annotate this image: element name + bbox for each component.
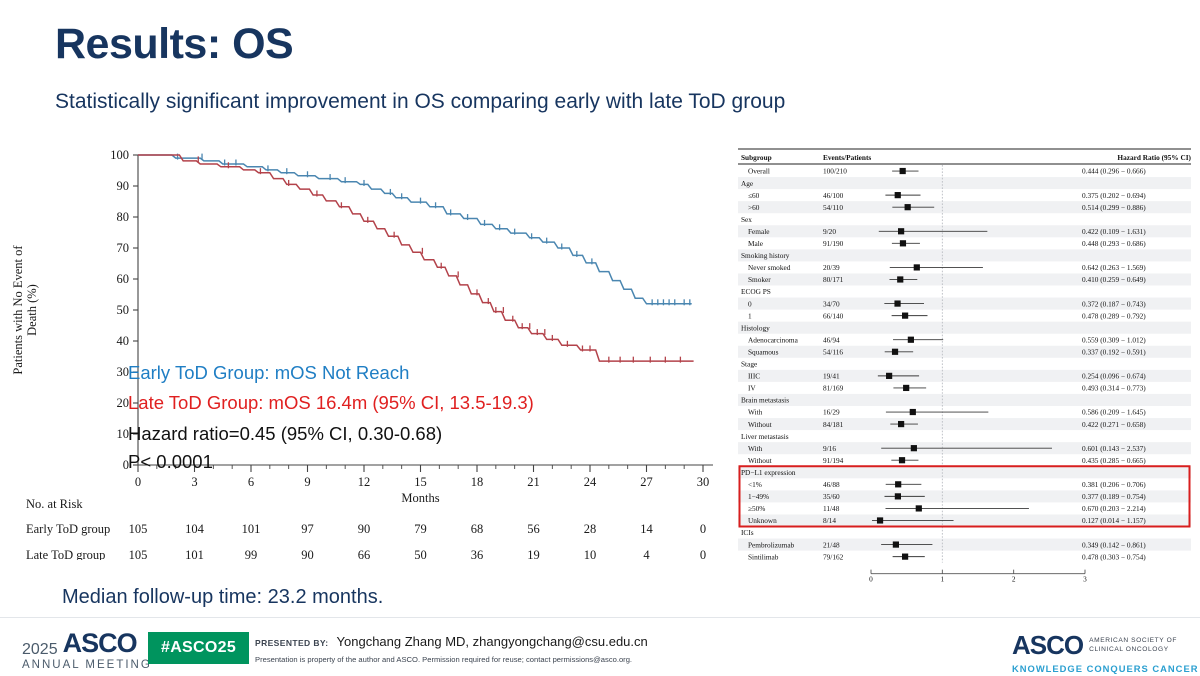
svg-text:66/140: 66/140: [823, 311, 844, 320]
svg-text:Squamous: Squamous: [748, 347, 779, 356]
svg-text:Overall: Overall: [748, 167, 770, 176]
svg-text:0.670 (0.203 − 2.214): 0.670 (0.203 − 2.214): [1082, 504, 1146, 513]
svg-text:Subgroup: Subgroup: [741, 153, 772, 162]
svg-text:2: 2: [1012, 575, 1016, 583]
svg-text:3: 3: [1083, 575, 1087, 583]
svg-text:14: 14: [640, 522, 653, 536]
svg-text:3: 3: [191, 475, 197, 489]
svg-text:0.642 (0.263 − 1.569): 0.642 (0.263 − 1.569): [1082, 263, 1146, 272]
svg-text:91/190: 91/190: [823, 239, 844, 248]
km-svg: 0102030405060708090100036912151821242730…: [0, 140, 730, 560]
svg-text:21/48: 21/48: [823, 540, 840, 549]
svg-text:Without: Without: [748, 420, 772, 429]
svg-text:27: 27: [640, 475, 653, 489]
median-followup-note: Median follow-up time: 23.2 months.: [62, 586, 383, 609]
svg-text:With: With: [748, 444, 763, 453]
svg-text:46/100: 46/100: [823, 191, 844, 200]
svg-text:0.410 (0.259 − 0.649): 0.410 (0.259 − 0.649): [1082, 275, 1146, 284]
svg-text:30: 30: [697, 475, 710, 489]
page-title: Results: OS: [55, 20, 293, 69]
svg-text:0.377 (0.189 − 0.754): 0.377 (0.189 − 0.754): [1082, 492, 1146, 501]
svg-text:16/29: 16/29: [823, 408, 840, 417]
svg-text:0.372 (0.187 − 0.743): 0.372 (0.187 − 0.743): [1082, 299, 1146, 308]
svg-text:Sex: Sex: [741, 215, 752, 224]
svg-text:34/70: 34/70: [823, 299, 840, 308]
svg-text:4: 4: [643, 548, 650, 560]
footer-right-sub1: AMERICAN SOCIETY OF: [1089, 637, 1177, 645]
svg-text:0: 0: [700, 522, 706, 536]
svg-text:66: 66: [358, 548, 371, 560]
svg-text:9/16: 9/16: [823, 444, 836, 453]
svg-text:≥50%: ≥50%: [748, 504, 765, 513]
svg-text:80/171: 80/171: [823, 275, 844, 284]
svg-text:97: 97: [301, 522, 314, 536]
svg-text:1: 1: [748, 311, 752, 320]
svg-text:0.478 (0.303 − 0.754): 0.478 (0.303 − 0.754): [1082, 552, 1146, 561]
asco-kcc-logo: ASCO AMERICAN SOCIETY OF CLINICAL ONCOLO…: [1012, 630, 1198, 674]
footer-asco-word: ASCO: [63, 628, 137, 659]
svg-text:With: With: [748, 408, 763, 417]
svg-text:Smoking history: Smoking history: [741, 251, 790, 260]
svg-text:8/14: 8/14: [823, 516, 836, 525]
forest-plot: SubgroupEvents/PatientsHazard Ratio (95%…: [738, 143, 1193, 583]
svg-text:9/20: 9/20: [823, 227, 836, 236]
svg-text:Female: Female: [748, 227, 769, 236]
svg-text:0.422 (0.271 − 0.658): 0.422 (0.271 − 0.658): [1082, 420, 1146, 429]
svg-text:0: 0: [748, 299, 752, 308]
svg-text:≤60: ≤60: [748, 191, 760, 200]
forest-svg: SubgroupEvents/PatientsHazard Ratio (95%…: [738, 143, 1193, 583]
svg-text:90: 90: [301, 548, 314, 560]
svg-text:100: 100: [110, 148, 129, 162]
svg-text:0.375 (0.202 − 0.694): 0.375 (0.202 − 0.694): [1082, 191, 1146, 200]
svg-text:100/210: 100/210: [823, 167, 847, 176]
presenter-name: Yongchang Zhang MD, zhangyongchang@csu.e…: [337, 634, 648, 649]
svg-text:6: 6: [248, 475, 254, 489]
slide-canvas: Results: OS Statistically significant im…: [0, 0, 1200, 675]
svg-text:Age: Age: [741, 179, 753, 188]
svg-text:80: 80: [117, 210, 130, 224]
svg-text:Brain metastasis: Brain metastasis: [741, 396, 789, 405]
svg-text:54/116: 54/116: [823, 347, 843, 356]
svg-text:91/194: 91/194: [823, 456, 844, 465]
svg-text:1−49%: 1−49%: [748, 492, 769, 501]
svg-text:Unknown: Unknown: [748, 516, 777, 525]
presented-by-label: PRESENTED BY:: [255, 638, 329, 648]
svg-text:Sintilimab: Sintilimab: [748, 552, 779, 561]
km-annotation-late: Late ToD Group: mOS 16.4m (95% CI, 13.5-…: [128, 392, 534, 414]
svg-text:Stage: Stage: [741, 360, 757, 369]
kaplan-meier-chart: 0102030405060708090100036912151821242730…: [0, 140, 730, 560]
page-subtitle: Statistically significant improvement in…: [55, 90, 785, 114]
svg-text:IIIC: IIIC: [748, 372, 760, 381]
svg-text:101: 101: [185, 548, 204, 560]
footer-right-sub2: CLINICAL ONCOLOGY: [1089, 646, 1177, 654]
svg-text:0.381 (0.206 − 0.706): 0.381 (0.206 − 0.706): [1082, 480, 1146, 489]
svg-text:0.254 (0.096 − 0.674): 0.254 (0.096 − 0.674): [1082, 372, 1146, 381]
svg-text:0.448 (0.293 − 0.686): 0.448 (0.293 − 0.686): [1082, 239, 1146, 248]
svg-text:Never smoked: Never smoked: [748, 263, 791, 272]
svg-text:19/41: 19/41: [823, 372, 840, 381]
svg-text:50: 50: [414, 548, 427, 560]
svg-text:IV: IV: [748, 384, 756, 393]
hashtag-badge: #ASCO25: [148, 632, 249, 664]
svg-text:0.337 (0.192 − 0.591): 0.337 (0.192 − 0.591): [1082, 347, 1146, 356]
svg-text:0: 0: [135, 475, 141, 489]
svg-text:18: 18: [471, 475, 484, 489]
svg-text:70: 70: [117, 241, 130, 255]
svg-text:68: 68: [471, 522, 484, 536]
km-annotation-early: Early ToD Group: mOS Not Reach: [128, 362, 409, 384]
km-annotation-hr: Hazard ratio=0.45 (95% CI, 0.30-0.68): [128, 423, 442, 445]
svg-text:PD−L1 expression: PD−L1 expression: [741, 468, 796, 477]
svg-text:1: 1: [941, 575, 945, 583]
svg-text:28: 28: [584, 522, 597, 536]
svg-text:0: 0: [869, 575, 873, 583]
svg-text:79: 79: [414, 522, 427, 536]
svg-text:0.422 (0.109 − 1.631): 0.422 (0.109 − 1.631): [1082, 227, 1146, 236]
svg-text:60: 60: [117, 272, 130, 286]
svg-text:Without: Without: [748, 456, 772, 465]
svg-text:81/169: 81/169: [823, 384, 844, 393]
svg-text:ICIs: ICIs: [741, 528, 754, 537]
svg-text:0.559 (0.309 − 1.012): 0.559 (0.309 − 1.012): [1082, 335, 1146, 344]
svg-text:0.127 (0.014 − 1.157): 0.127 (0.014 − 1.157): [1082, 516, 1146, 525]
svg-text:0.444 (0.296 − 0.666): 0.444 (0.296 − 0.666): [1082, 167, 1146, 176]
footer-right-asco-word: ASCO: [1012, 630, 1083, 661]
svg-text:54/110: 54/110: [823, 203, 843, 212]
svg-text:104: 104: [185, 522, 205, 536]
svg-text:46/94: 46/94: [823, 335, 840, 344]
svg-text:Months: Months: [401, 491, 439, 505]
svg-text:10: 10: [584, 548, 597, 560]
footer-annual-meeting: ANNUAL MEETING: [22, 659, 152, 671]
svg-text:105: 105: [129, 522, 148, 536]
svg-text:11/48: 11/48: [823, 504, 840, 513]
svg-text:Pembrolizumab: Pembrolizumab: [748, 540, 795, 549]
svg-text:90: 90: [358, 522, 371, 536]
svg-text:ECOG PS: ECOG PS: [741, 287, 771, 296]
svg-text:90: 90: [117, 179, 130, 193]
svg-text:Death (%): Death (%): [25, 284, 39, 336]
svg-text:35/60: 35/60: [823, 492, 840, 501]
svg-text:0.349 (0.142 − 0.861): 0.349 (0.142 − 0.861): [1082, 540, 1146, 549]
svg-text:0.601 (0.143 − 2.537): 0.601 (0.143 − 2.537): [1082, 444, 1146, 453]
svg-text:0.435 (0.285 − 0.665): 0.435 (0.285 − 0.665): [1082, 456, 1146, 465]
svg-text:9: 9: [304, 475, 310, 489]
svg-text:12: 12: [358, 475, 371, 489]
svg-text:Adenocarcinoma: Adenocarcinoma: [748, 335, 799, 344]
footer-tagline: KNOWLEDGE CONQUERS CANCER: [1012, 663, 1198, 674]
svg-text:24: 24: [584, 475, 597, 489]
svg-text:46/88: 46/88: [823, 480, 840, 489]
svg-text:Hazard Ratio (95% CI): Hazard Ratio (95% CI): [1117, 153, 1191, 162]
svg-text:Early ToD group: Early ToD group: [26, 522, 110, 536]
svg-text:0.514 (0.299 − 0.886): 0.514 (0.299 − 0.886): [1082, 203, 1146, 212]
svg-text:Late ToD group: Late ToD group: [26, 548, 105, 560]
svg-text:50: 50: [117, 303, 130, 317]
svg-text:>60: >60: [748, 203, 760, 212]
svg-text:Liver metastasis: Liver metastasis: [741, 432, 789, 441]
footer-year: 2025: [22, 641, 58, 659]
svg-text:Male: Male: [748, 239, 763, 248]
svg-text:19: 19: [527, 548, 540, 560]
svg-text:101: 101: [242, 522, 261, 536]
svg-text:56: 56: [527, 522, 540, 536]
svg-text:21: 21: [527, 475, 540, 489]
svg-text:Histology: Histology: [741, 323, 770, 332]
svg-text:0.478 (0.289 − 0.792): 0.478 (0.289 − 0.792): [1082, 311, 1146, 320]
svg-text:105: 105: [129, 548, 148, 560]
svg-text:0.493 (0.314 − 0.773): 0.493 (0.314 − 0.773): [1082, 384, 1146, 393]
svg-text:0: 0: [700, 548, 706, 560]
svg-text:15: 15: [414, 475, 427, 489]
svg-text:Events/Patients: Events/Patients: [823, 153, 871, 162]
svg-text:0.586 (0.209 − 1.645): 0.586 (0.209 − 1.645): [1082, 408, 1146, 417]
asco-annual-meeting-logo: 2025 ASCO ANNUAL MEETING: [22, 628, 152, 671]
svg-text:No. at Risk: No. at Risk: [26, 497, 83, 511]
svg-text:36: 36: [471, 548, 484, 560]
svg-text:99: 99: [245, 548, 258, 560]
svg-text:20/39: 20/39: [823, 263, 840, 272]
svg-text:Smoker: Smoker: [748, 275, 771, 284]
permission-note: Presentation is property of the author a…: [255, 655, 648, 664]
svg-text:79/162: 79/162: [823, 552, 844, 561]
svg-text:<1%: <1%: [748, 480, 762, 489]
km-annotation-pvalue: P< 0.0001: [128, 451, 213, 473]
svg-text:Patients with No Event of: Patients with No Event of: [11, 245, 25, 375]
slide-footer: 2025 ASCO ANNUAL MEETING #ASCO25 PRESENT…: [0, 617, 1200, 676]
svg-text:84/181: 84/181: [823, 420, 844, 429]
svg-text:40: 40: [117, 334, 130, 348]
